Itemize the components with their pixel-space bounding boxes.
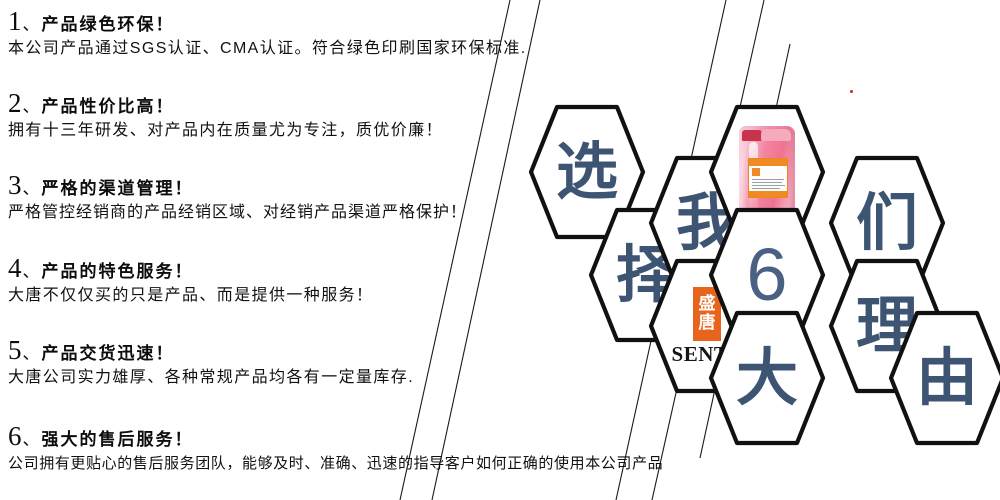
label-bottom-bar <box>749 191 787 197</box>
label-swatch <box>752 168 760 176</box>
hexagon-you[interactable]: 由 <box>888 310 1000 446</box>
hexagon-label: 由 <box>888 310 1000 446</box>
label-text-line <box>752 179 784 180</box>
label-text-line <box>752 182 782 183</box>
hexagon-label: 大 <box>708 310 826 446</box>
jerrycan-label <box>748 158 788 198</box>
hexagon-cluster: 选 择 我 盛 唐 SENTA <box>0 0 1000 500</box>
jerrycan-handle <box>761 129 791 141</box>
label-text-line <box>752 185 785 186</box>
label-top-bar <box>749 159 787 166</box>
speck-artifact <box>850 90 853 93</box>
promo-banner: 1 、 产品绿色环保！ 本公司产品通过SGS认证、CMA认证。符合绿色印刷国家环… <box>0 0 1000 500</box>
hexagon-da[interactable]: 大 <box>708 310 826 446</box>
jerrycan-cap <box>742 130 762 141</box>
label-text-line <box>752 188 780 189</box>
